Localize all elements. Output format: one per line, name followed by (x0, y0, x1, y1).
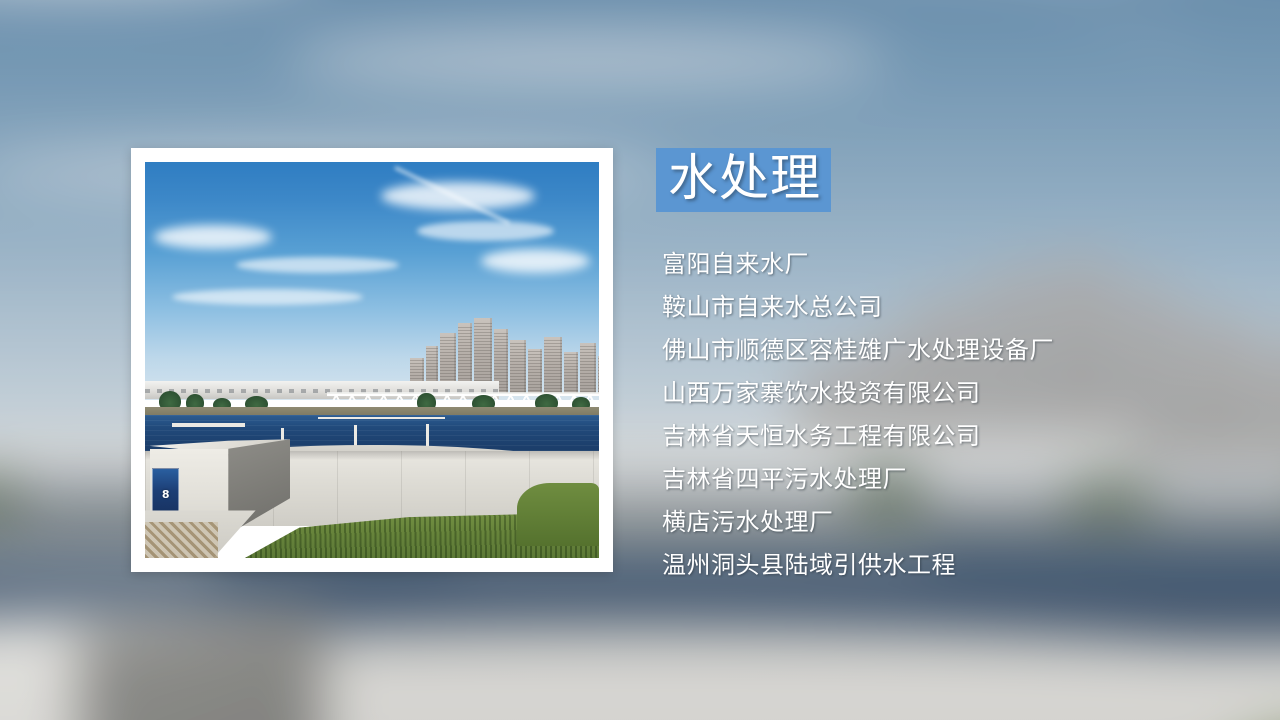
gravel-patch (145, 522, 218, 558)
title-highlight-box: 水处理 (656, 148, 831, 212)
list-item: 富阳自来水厂 (662, 243, 1216, 286)
list-item: 山西万家寨饮水投资有限公司 (662, 372, 1216, 415)
photo-image: 8 (145, 162, 599, 558)
slide-root: 8 (0, 0, 1280, 720)
sign-number: 8 (162, 489, 170, 500)
list-item: 吉林省天恒水务工程有限公司 (662, 415, 1216, 458)
list-item: 鞍山市自来水总公司 (662, 286, 1216, 329)
grass-right (517, 483, 599, 546)
list-item: 横店污水处理厂 (662, 501, 1216, 544)
page-title: 水处理 (668, 151, 821, 206)
list-item: 佛山市顺德区容桂雄广水处理设备厂 (662, 329, 1216, 372)
photo-card: 8 (131, 148, 613, 572)
client-list: 富阳自来水厂 鞍山市自来水总公司 佛山市顺德区容桂雄广水处理设备厂 山西万家寨饮… (662, 243, 1216, 587)
list-item: 吉林省四平污水处理厂 (662, 458, 1216, 501)
list-item: 温州洞头县陆域引供水工程 (662, 544, 1216, 587)
text-panel: 水处理 富阳自来水厂 鞍山市自来水总公司 佛山市顺德区容桂雄广水处理设备厂 山西… (656, 148, 1216, 587)
